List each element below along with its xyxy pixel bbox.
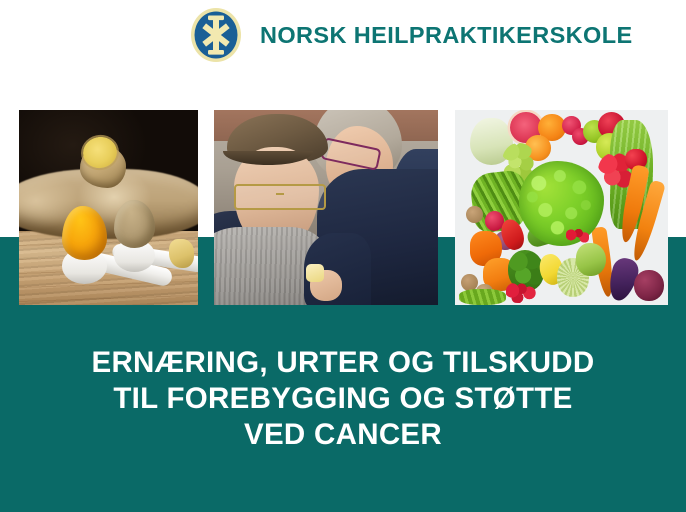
photo3-redcurrants: [566, 227, 589, 245]
slide-title-line-3: VED CANCER: [0, 417, 686, 453]
photo3-kohlrabi: [576, 243, 606, 276]
slide-title-line-2: TIL FOREBYGGING OG STØTTE: [0, 381, 686, 417]
slide-title: ERNÆRING, URTER OG TILSKUDD TIL FOREBYGG…: [0, 345, 686, 453]
vegetables-photo: [455, 110, 668, 305]
elderly-couple-photo: [214, 110, 438, 305]
photo3-red-onion: [634, 270, 664, 301]
organization-name: NORSK HEILPRAKTIKERSKOLE: [260, 22, 633, 49]
photo3-mushroom: [466, 206, 483, 224]
photo3-strawberries: [506, 282, 536, 303]
ginger-turmeric-photo: [19, 110, 198, 305]
photo3-herbs: [459, 289, 506, 305]
photo1-ginger-chunk: [169, 239, 194, 268]
slide-header: NORSK HEILPRAKTIKERSKOLE: [0, 0, 686, 96]
photo2-man-glasses: [234, 184, 325, 209]
norsk-heilpraktikerskole-emblem-icon: [188, 6, 244, 64]
photo2-food-piece: [306, 264, 324, 282]
slide-title-line-1: ERNÆRING, URTER OG TILSKUDD: [0, 345, 686, 381]
header-brand-group: NORSK HEILPRAKTIKERSKOLE: [188, 6, 633, 64]
